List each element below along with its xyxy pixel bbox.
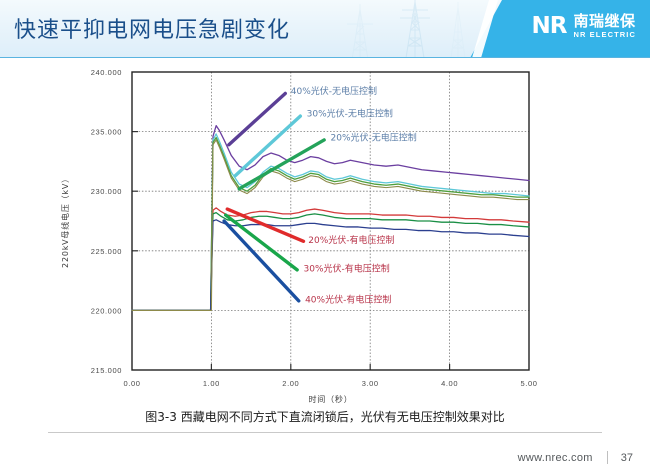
y-tick-label: 235.000 [91, 128, 122, 137]
y-tick-label: 240.000 [91, 68, 122, 77]
y-tick-label: 230.000 [91, 187, 122, 196]
logo-english-name: NR ELECTRIC [573, 31, 636, 39]
x-tick-label: 3.00 [362, 379, 379, 388]
x-tick-label: 2.00 [282, 379, 299, 388]
y-tick-label: 225.000 [91, 247, 122, 256]
y-tick-label: 215.000 [91, 366, 122, 375]
logo-text: 南瑞继保 NR ELECTRIC [573, 14, 636, 39]
x-axis-title: 时间（秒） [309, 394, 353, 404]
x-tick-label: 1.00 [203, 379, 220, 388]
figure-caption: 图3-3 西藏电网不同方式下直流闭锁后，光伏有无电压控制效果对比 [0, 408, 650, 425]
caption-divider [48, 432, 602, 433]
series-annotation-label: 20%光伏-无电压控制 [331, 132, 417, 144]
y-tick-label: 220.000 [91, 306, 122, 315]
series-annotation-label: 40%光伏-无电压控制 [291, 85, 377, 97]
x-tick-label: 5.00 [521, 379, 538, 388]
series-annotation-label: 20%光伏-有电压控制 [308, 234, 394, 246]
series-annotation-label: 40%光伏-有电压控制 [305, 294, 391, 306]
transmission-tower-watermark-tertiary [440, 2, 476, 58]
figure-container: 240.000235.000230.000225.000220.000215.0… [0, 59, 650, 407]
series-annotation-label: 30%光伏-无电压控制 [307, 108, 393, 120]
logo-mark: NR [532, 15, 567, 38]
company-logo: NR 南瑞继保 NR ELECTRIC [532, 14, 637, 39]
x-tick-label: 4.00 [441, 379, 458, 388]
transmission-tower-watermark [392, 0, 438, 58]
logo-chinese-name: 南瑞继保 [573, 14, 636, 29]
footer-divider [607, 451, 608, 464]
page-title: 快速平抑电网电压急剧变化 [14, 12, 290, 44]
x-tick-label: 0.00 [124, 379, 141, 388]
slide-footer: www.nrec.com 37 [0, 442, 650, 473]
slide-header: 快速平抑电网电压急剧变化 NR 南瑞继保 NR ELECTRIC [0, 0, 650, 58]
footer-url[interactable]: www.nrec.com [518, 452, 593, 464]
page-number: 37 [621, 452, 633, 464]
series-annotation-label: 30%光伏-有电压控制 [304, 263, 390, 275]
transmission-tower-watermark-secondary [340, 4, 380, 58]
header-underline [0, 57, 650, 58]
voltage-chart: 240.000235.000230.000225.000220.000215.0… [0, 59, 650, 407]
y-axis-title: 220kV母线电压（kV） [60, 174, 70, 268]
